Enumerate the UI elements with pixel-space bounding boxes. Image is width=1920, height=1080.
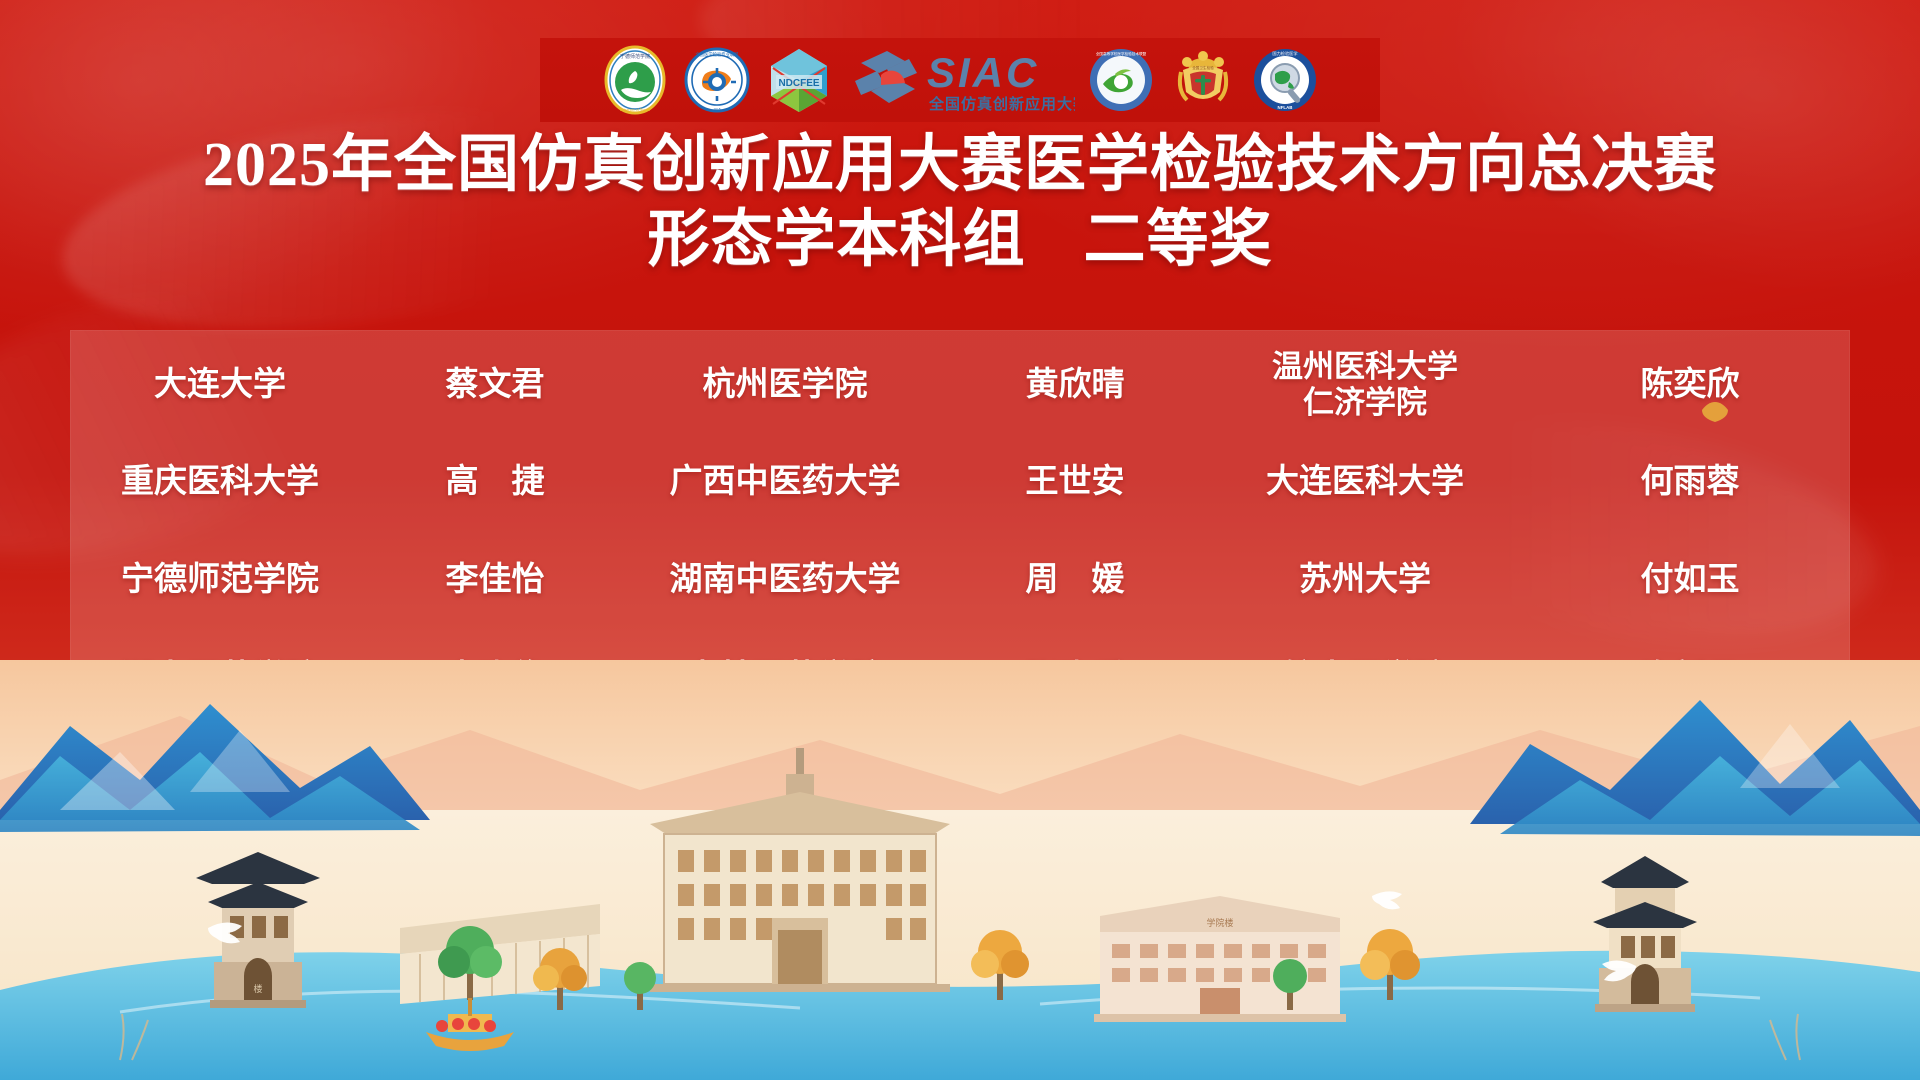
logo-china-medical-laboratory-alliance: 全国医学检验专业联盟 2018 xyxy=(681,44,753,116)
ndcfee-label: NDCFEE xyxy=(778,78,819,89)
award-label: 二等奖 xyxy=(1084,206,1273,274)
winner-school: 温州医科大学 仁济学院 xyxy=(1200,349,1530,421)
svg-text:全国医学检验专业联盟: 全国医学检验专业联盟 xyxy=(696,51,740,58)
winner-school: 宁德师范学院 xyxy=(70,561,370,599)
winner-name: 李晓俊 xyxy=(370,659,620,697)
winner-school: 苏州大学 xyxy=(1200,561,1530,599)
svg-text:全国高等学校医学检验技术联盟: 全国高等学校医学检验技术联盟 xyxy=(1096,51,1147,56)
svg-text:全国卫生检验: 全国卫生检验 xyxy=(1192,65,1214,70)
winner-school: 赣南医科大学 xyxy=(70,756,370,794)
winner-name: 周 媛 xyxy=(950,561,1200,599)
winner-name: 付如玉 xyxy=(1530,561,1850,599)
winner-school: 大连医科大学 xyxy=(1200,463,1530,501)
svg-text:楼: 楼 xyxy=(253,983,262,994)
subtitle-line: 形态学本科组二等奖 xyxy=(0,202,1920,278)
winner-name: 杜瑞辉 xyxy=(950,756,1200,794)
winner-school: 福建医科大学 xyxy=(620,756,950,794)
winner-name: 陈奕欣 xyxy=(1530,366,1850,404)
svg-text:2018: 2018 xyxy=(714,107,721,111)
logo-strip: 宁德师范学院 University of Ningde 全国医学检验专业联盟 2… xyxy=(540,38,1380,122)
logo-golden-crest-emblem: 全国卫生检验 xyxy=(1167,44,1239,116)
logo-national-medical-education: 全国高等学校医学检验技术联盟 xyxy=(1085,44,1157,116)
svg-text:University of Ningde: University of Ningde xyxy=(620,108,651,112)
winner-name: 张晓乐 xyxy=(950,659,1200,697)
winner-school: 湖南中医药大学 xyxy=(620,561,950,599)
logo-ndcfee: NDCFEE xyxy=(763,44,835,116)
winner-name: 许新月 xyxy=(1530,659,1850,697)
winner-name: 何雨蓉 xyxy=(1530,463,1850,501)
siac-subtitle: 全国仿真创新应用大赛 xyxy=(928,95,1075,113)
winner-school: 大连大学 xyxy=(70,366,370,404)
svg-text:国力检验医学: 国力检验医学 xyxy=(1272,50,1297,57)
winner-name: 高 捷 xyxy=(370,463,620,501)
winner-name: 蔡文君 xyxy=(370,366,620,404)
winner-school: 重庆医科大学 xyxy=(70,463,370,501)
winner-school: 广西中医药大学 xyxy=(620,463,950,501)
winner-name: 李佳怡 xyxy=(370,561,620,599)
winner-school: 吉林医药学院 xyxy=(620,659,950,697)
winner-name: 吴 仙 xyxy=(370,756,620,794)
winner-school: 湘南学院 xyxy=(1200,756,1530,794)
svg-text:学院楼: 学院楼 xyxy=(1206,917,1233,928)
siac-wordmark: SIAC xyxy=(927,49,1039,96)
winners-table: 大连大学蔡文君杭州医学院黄欣晴温州医科大学 仁济学院陈奕欣重庆医科大学高 捷广西… xyxy=(70,330,1850,830)
winner-name: 王世安 xyxy=(950,463,1200,501)
svg-text:宁德师范学院: 宁德师范学院 xyxy=(620,53,650,60)
winner-name: 黄欣晴 xyxy=(950,366,1200,404)
logo-ningde-normal-university: 宁德师范学院 University of Ningde xyxy=(599,44,671,116)
title-block: 2025年全国仿真创新应用大赛医学检验技术方向总决赛 形态学本科组二等奖 xyxy=(0,128,1920,278)
group-label: 形态学本科组 xyxy=(647,206,1025,274)
svg-text:NFLAB: NFLAB xyxy=(1278,105,1293,110)
winner-name: 刘宇翔 xyxy=(1530,756,1850,794)
poster-canvas: 宁德师范学院 University of Ningde 全国医学检验专业联盟 2… xyxy=(0,0,1920,1080)
logo-siac: SIAC 全国仿真创新应用大赛 xyxy=(845,43,1075,117)
winner-school: 皖南医学院 xyxy=(1200,659,1530,697)
page-title: 2025年全国仿真创新应用大赛医学检验技术方向总决赛 xyxy=(0,128,1920,202)
logo-nflab: 国力检验医学 NFLAB xyxy=(1249,44,1321,116)
winner-school: 湖南医药学院 xyxy=(70,659,370,697)
winner-school: 杭州医学院 xyxy=(620,366,950,404)
